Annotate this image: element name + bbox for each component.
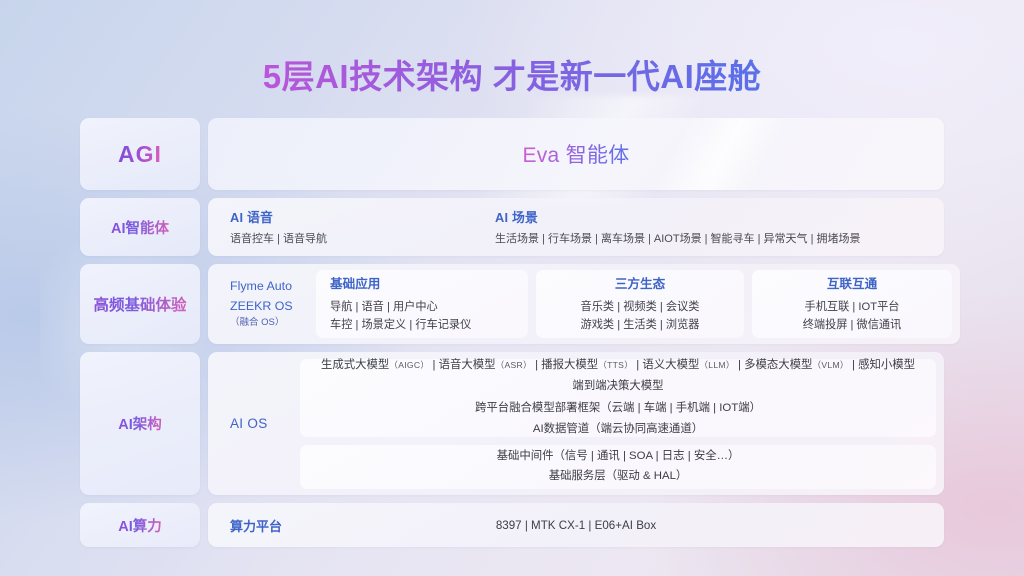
panel-basic-apps-heading: 基础应用 xyxy=(330,273,514,292)
os-name-flyme: Flyme Auto xyxy=(230,277,308,296)
layer-label-ai-compute: AI算力 xyxy=(80,503,200,547)
panel-ai-foundation: 基础中间件（信号 | 通讯 | SOA | 日志 | 安全…）基础服务层（驱动 … xyxy=(300,445,936,489)
os-name-zeekr: ZEEKR OS xyxy=(230,297,308,316)
layer-label-ai-compute-text: AI算力 xyxy=(118,515,162,536)
group-ai-voice-items: 语音控车 | 语音导航 xyxy=(230,231,495,248)
panel-basic-apps: 基础应用 导航 | 语音 | 用户中心 车控 | 场景定义 | 行车记录仪 xyxy=(316,270,528,338)
group-ai-scene-items: 生活场景 | 行车场景 | 离车场景 | AIOT场景 | 智能寻车 | 异常天… xyxy=(495,231,861,248)
agi-content-cell: Eva 智能体 xyxy=(208,118,944,190)
panel-interconnect-line2: 终端投屏 | 微信通讯 xyxy=(803,316,902,334)
ai-architecture-stack: 生成式大模型（AIGC） | 语音大模型（ASR） | 播报大模型（TTS） |… xyxy=(300,359,936,489)
model-line: 端到端决策大模型 xyxy=(572,379,663,394)
ai-agent-content-cell: AI 语音 语音控车 | 语音导航 AI 场景 生活场景 | 行车场景 | 离车… xyxy=(208,198,944,256)
layer-label-ai-agent: AI智能体 xyxy=(80,198,200,256)
layer-label-ai-architecture-text: AI架构 xyxy=(118,413,162,434)
panel-third-party-line2: 游戏类 | 生活类 | 浏览器 xyxy=(581,316,700,334)
compute-platform-value: 8397 | MTK CX-1 | E06+AI Box xyxy=(208,519,944,532)
panel-ai-models: 生成式大模型（AIGC） | 语音大模型（ASR） | 播报大模型（TTS） |… xyxy=(300,359,936,437)
model-line: 跨平台融合模型部署框架（云端 | 车端 | 手机端 | IOT端） xyxy=(475,401,761,416)
panel-third-party-line1: 音乐类 | 视频类 | 会议类 xyxy=(581,298,700,316)
panel-third-party-heading: 三方生态 xyxy=(615,273,665,292)
ai-architecture-content-cell: AI OS 生成式大模型（AIGC） | 语音大模型（ASR） | 播报大模型（… xyxy=(208,352,944,495)
panel-third-party-ecosystem: 三方生态 音乐类 | 视频类 | 会议类 游戏类 | 生活类 | 浏览器 xyxy=(536,270,744,338)
layer-row-ai-architecture: AI架构 AI OS 生成式大模型（AIGC） | 语音大模型（ASR） | 播… xyxy=(80,352,944,495)
layer-row-base-experience: 高频基础体验 Flyme Auto ZEEKR OS （融合 OS） 基础应用 … xyxy=(80,264,944,344)
panel-basic-apps-line2: 车控 | 场景定义 | 行车记录仪 xyxy=(330,316,514,334)
layer-row-agi: AGI Eva 智能体 xyxy=(80,118,944,190)
layer-label-base-experience-text: 高频基础体验 xyxy=(93,293,186,315)
layer-row-ai-compute: AI算力 算力平台 8397 | MTK CX-1 | E06+AI Box xyxy=(80,503,944,547)
group-ai-scene: AI 场景 生活场景 | 行车场景 | 离车场景 | AIOT场景 | 智能寻车… xyxy=(495,207,861,248)
panel-interconnect-line1: 手机互联 | IOT平台 xyxy=(805,298,900,316)
group-ai-voice-heading: AI 语音 xyxy=(230,207,495,226)
layer-label-ai-architecture: AI架构 xyxy=(80,352,200,495)
model-line: 基础中间件（信号 | 通讯 | SOA | 日志 | 安全…） xyxy=(497,449,740,464)
model-line: 生成式大模型（AIGC） | 语音大模型（ASR） | 播报大模型（TTS） |… xyxy=(321,358,915,373)
layer-label-ai-agent-text: AI智能体 xyxy=(111,217,169,238)
panel-basic-apps-line1: 导航 | 语音 | 用户中心 xyxy=(330,298,514,316)
layer-row-ai-agent: AI智能体 AI 语音 语音控车 | 语音导航 AI 场景 生活场景 | 行车场… xyxy=(80,198,944,256)
architecture-table: AGI Eva 智能体 AI智能体 AI 语音 语音控车 | 语音导航 AI 场… xyxy=(80,118,944,547)
group-ai-voice: AI 语音 语音控车 | 语音导航 xyxy=(230,207,495,248)
panel-interconnect: 互联互通 手机互联 | IOT平台 终端投屏 | 微信通讯 xyxy=(752,270,952,338)
model-line: 基础服务层（驱动 & HAL） xyxy=(549,469,688,484)
eva-agent-title: Eva 智能体 xyxy=(522,139,629,169)
page-title: 5层AI技术架构 才是新一代AI座舱 xyxy=(0,50,1024,98)
layer-label-agi-text: AGI xyxy=(118,141,162,168)
ai-compute-content-cell: 算力平台 8397 | MTK CX-1 | E06+AI Box xyxy=(208,503,944,547)
model-line: AI数据管道（端云协同高速通道） xyxy=(533,422,703,437)
panel-interconnect-heading: 互联互通 xyxy=(827,273,877,292)
fused-os-block: Flyme Auto ZEEKR OS （融合 OS） xyxy=(216,277,308,330)
group-ai-scene-heading: AI 场景 xyxy=(495,207,861,226)
ai-os-label: AI OS xyxy=(216,416,300,431)
layer-label-agi: AGI xyxy=(80,118,200,190)
os-name-note: （融合 OS） xyxy=(230,316,308,331)
base-experience-content-cell: Flyme Auto ZEEKR OS （融合 OS） 基础应用 导航 | 语音… xyxy=(208,264,960,344)
layer-label-base-experience: 高频基础体验 xyxy=(80,264,200,344)
